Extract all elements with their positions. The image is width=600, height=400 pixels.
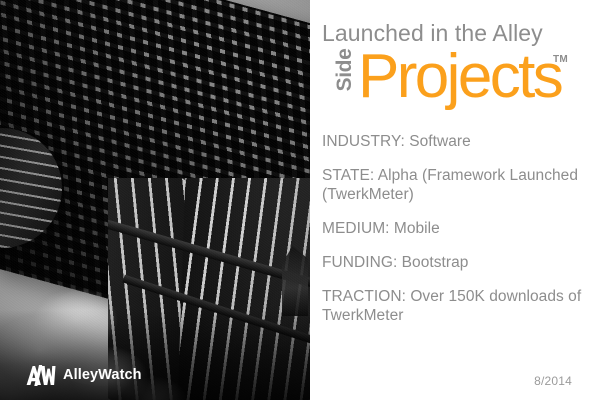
detail-row-funding: FUNDING: Bootstrap [322, 253, 590, 272]
date-stamp: 8/2014 [534, 374, 572, 388]
details-list: INDUSTRY: Software STATE: Alpha (Framewo… [322, 132, 590, 325]
hero-photo: AlleyWatch [0, 0, 310, 400]
detail-row-industry: INDUSTRY: Software [322, 132, 590, 151]
alleywatch-wordmark: AlleyWatch [63, 368, 142, 383]
detail-row-medium: MEDIUM: Mobile [322, 219, 590, 238]
alleywatch-monogram-icon [26, 365, 56, 386]
trademark-symbol: TM [553, 54, 568, 65]
detail-row-state: STATE: Alpha (Framework Launched (TwerkM… [322, 166, 590, 204]
alleywatch-logo: AlleyWatch [26, 365, 142, 386]
detail-row-traction: TRACTION: Over 150K downloads of TwerkMe… [322, 287, 590, 325]
side-projects-logo: Side Projects TM [322, 52, 592, 114]
launched-in-the-alley-card: AlleyWatch Launched in the Alley Side Pr… [0, 0, 600, 400]
brand-projects-word: Projects [358, 46, 561, 108]
brand-side-word: Side [332, 47, 358, 93]
content-panel: Launched in the Alley Side Projects TM I… [310, 0, 600, 400]
